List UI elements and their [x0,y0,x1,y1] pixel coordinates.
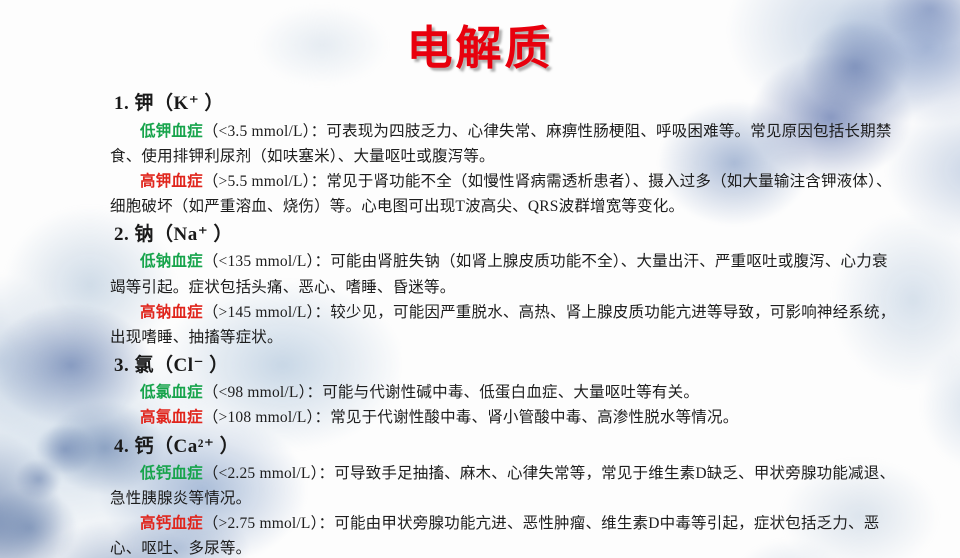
section-heading-sodium: 2. 钠（Na⁺ ） [114,221,900,250]
condition-tag-hyponatremia: 低钠血症 [140,253,203,270]
paragraph-hyperchloremia: 高氯血症（>108 mmol/L）：常见于代谢性酸中毒、肾小管酸中毒、高渗性脱水… [110,405,900,430]
condition-tag-hypercalcemia: 高钙血症 [140,515,203,532]
section-heading-chloride: 3. 氯（Cl⁻ ） [114,352,900,381]
paragraph-hypochloremia: 低氯血症（<98 mmol/L）：可能与代谢性碱中毒、低蛋白血症、大量呕吐等有关… [110,380,900,405]
paragraph-hypercalcemia: 高钙血症（>2.75 mmol/L）：可能由甲状旁腺功能亢进、恶性肿瘤、维生素D… [110,511,900,558]
section-heading-calcium: 4. 钙（Ca²⁺ ） [114,433,900,462]
content-body: 1. 钾（K⁺ ） 低钾血症（<3.5 mmol/L）：可表现为四肢乏力、心律失… [110,88,900,558]
range-hypercalcemia: （>2.75 mmol/L）： [203,515,334,532]
section-heading-potassium: 1. 钾（K⁺ ） [114,90,900,119]
condition-tag-hyperchloremia: 高氯血症 [140,409,203,426]
condition-tag-hypochloremia: 低氯血症 [140,384,203,401]
range-hypokalemia: （<3.5 mmol/L）： [203,123,327,140]
description-hypochloremia: 可能与代谢性碱中毒、低蛋白血症、大量呕吐等有关。 [322,384,699,401]
paragraph-hypocalcemia: 低钙血症（<2.25 mmol/L）：可导致手足抽搐、麻木、心律失常等，常见于维… [110,461,900,511]
condition-tag-hypocalcemia: 低钙血症 [140,465,203,482]
range-hyperkalemia: （>5.5 mmol/L）： [203,173,327,190]
condition-tag-hyperkalemia: 高钾血症 [140,173,203,190]
range-hyponatremia: （<135 mmol/L）： [203,253,330,270]
slide-title: 电解质 [0,24,960,75]
condition-tag-hypokalemia: 低钾血症 [140,123,203,140]
range-hypocalcemia: （<2.25 mmol/L）： [203,465,334,482]
paragraph-hypernatremia: 高钠血症（>145 mmol/L）：较少见，可能因严重脱水、高热、肾上腺皮质功能… [110,300,900,350]
range-hyperchloremia: （>108 mmol/L）： [203,409,330,426]
condition-tag-hypernatremia: 高钠血症 [140,304,203,321]
paragraph-hyponatremia: 低钠血症（<135 mmol/L）：可能由肾脏失钠（如肾上腺皮质功能不全）、大量… [110,249,900,299]
range-hypernatremia: （>145 mmol/L）： [203,304,330,321]
paragraph-hyperkalemia: 高钾血症（>5.5 mmol/L）：常见于肾功能不全（如慢性肾病需透析患者）、摄… [110,169,900,219]
description-hyperchloremia: 常见于代谢性酸中毒、肾小管酸中毒、高渗性脱水等情况。 [330,409,738,426]
range-hypochloremia: （<98 mmol/L）： [203,384,322,401]
paragraph-hypokalemia: 低钾血症（<3.5 mmol/L）：可表现为四肢乏力、心律失常、麻痹性肠梗阻、呼… [110,119,900,169]
slide-canvas: 电解质 1. 钾（K⁺ ） 低钾血症（<3.5 mmol/L）：可表现为四肢乏力… [0,0,960,558]
